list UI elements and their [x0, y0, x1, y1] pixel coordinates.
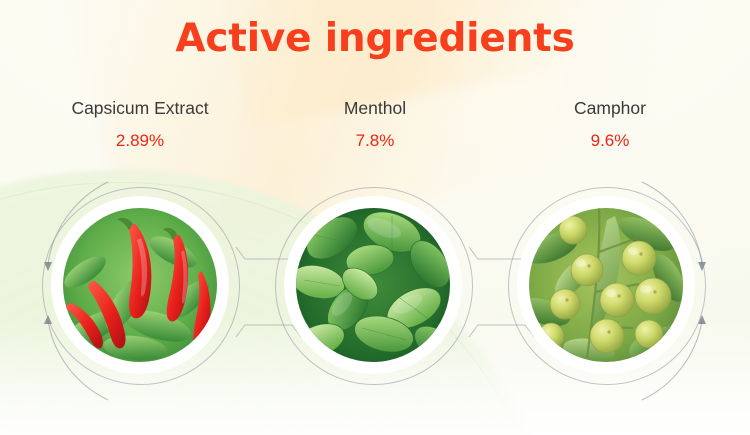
ingredient-name-3: Camphor: [485, 100, 735, 118]
ring-outline-3: [508, 187, 706, 385]
ring-outline-2: [275, 187, 473, 385]
ingredient-percent-3: 9.6%: [485, 132, 735, 149]
page-title: Active ingredients: [0, 16, 750, 61]
ingredient-percent-1: 2.89%: [15, 132, 265, 149]
ingredient-column-1: Capsicum Extract 2.89%: [15, 100, 265, 149]
slide-canvas: Active ingredients Capsicum Extract 2.89…: [0, 0, 750, 435]
ingredient-percent-2: 7.8%: [250, 132, 500, 149]
ingredient-name-2: Menthol: [250, 100, 500, 118]
ingredient-column-2: Menthol 7.8%: [250, 100, 500, 149]
ingredient-column-3: Camphor 9.6%: [485, 100, 735, 149]
ingredient-name-1: Capsicum Extract: [15, 100, 265, 118]
ring-outline-1: [42, 187, 240, 385]
